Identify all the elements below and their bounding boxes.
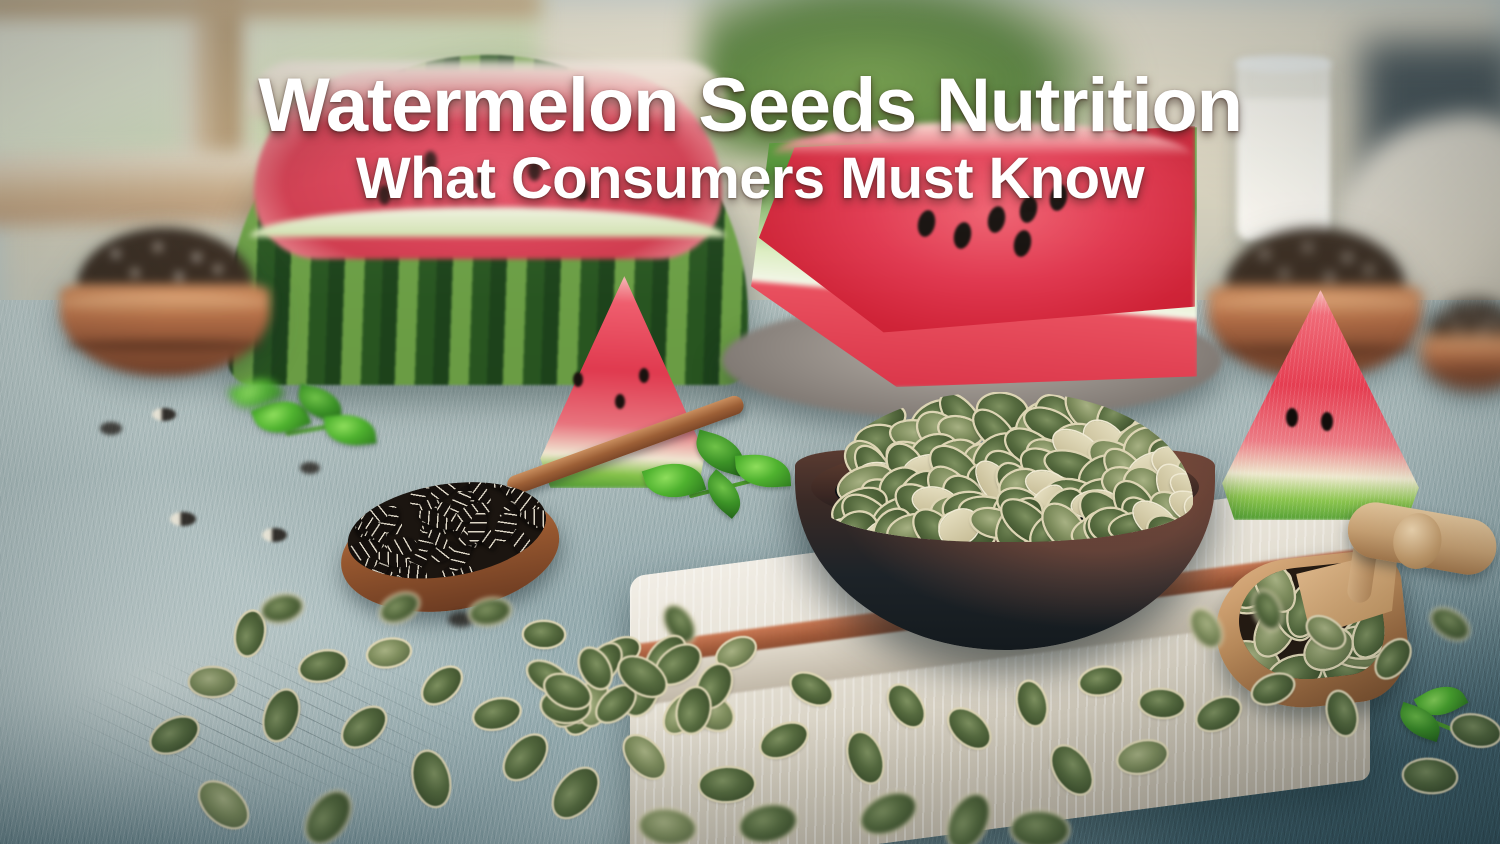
seed [417,661,468,710]
seed [699,767,754,802]
seed [297,647,348,685]
seed [408,748,454,810]
seed [1115,737,1170,778]
seed [336,700,392,754]
seed [1249,587,1286,632]
seed [1139,689,1185,719]
seed [737,800,799,844]
seed [1011,811,1069,844]
seed [786,667,836,711]
seed [1449,711,1500,750]
seed [638,807,697,844]
seed [524,622,565,648]
green-seed-pile [817,392,1193,542]
seed [1014,679,1051,728]
seed [842,728,888,786]
seed [497,728,554,786]
seed [146,710,204,759]
scattered-seeds [0,0,1500,844]
seed [1044,739,1099,800]
seed [260,592,305,625]
seed [377,589,422,627]
seed [1185,605,1227,652]
seed [298,784,358,844]
seed [942,702,996,754]
seed [1370,634,1416,683]
seed [190,668,235,696]
seed [545,761,606,825]
seed [940,788,997,844]
banner-image: Watermelon Seeds Nutrition What Consumer… [0,0,1500,844]
seed [1078,665,1124,698]
seed [366,636,412,669]
seed [1427,603,1473,645]
seed [855,785,922,841]
seed [882,679,930,732]
seed [232,609,267,658]
seed [259,687,304,745]
seed [1303,611,1350,654]
seed [468,597,511,628]
seed [617,729,673,786]
seed [1192,691,1244,736]
seed [1323,689,1361,739]
seed [192,774,256,836]
seed [471,695,523,734]
seed [756,717,811,764]
seed [1403,758,1457,794]
seed [1249,669,1298,709]
